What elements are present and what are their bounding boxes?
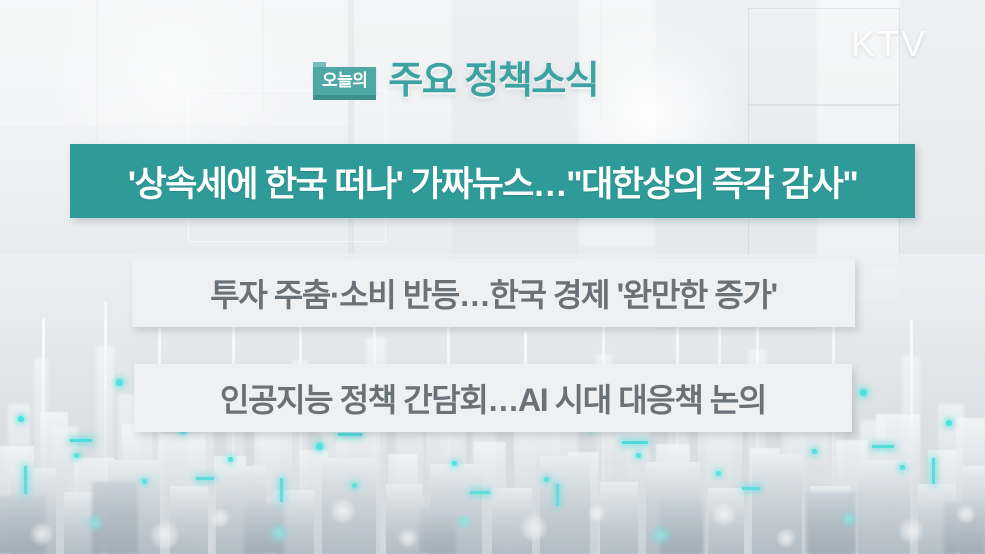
program-title: 주요 정책소식 <box>388 62 598 100</box>
headline-item-2[interactable]: 투자 주춤·소비 반등…한국 경제 '완만한 증가' <box>132 259 855 327</box>
program-title-block: 오늘의 주요 정책소식 <box>313 62 598 100</box>
headline-item-3[interactable]: 인공지능 정책 간담회…AI 시대 대응책 논의 <box>134 364 852 432</box>
broadcast-graphic: KTV 오늘의 주요 정책소식 '상속세에 한국 떠나' 가짜뉴스…"대한상의 … <box>0 0 985 554</box>
ktv-logo: KTV <box>851 23 927 65</box>
program-badge: 오늘의 <box>313 67 376 95</box>
headline-item-1[interactable]: '상속세에 한국 떠나' 가짜뉴스…"대한상의 즉각 감사" <box>70 144 915 218</box>
